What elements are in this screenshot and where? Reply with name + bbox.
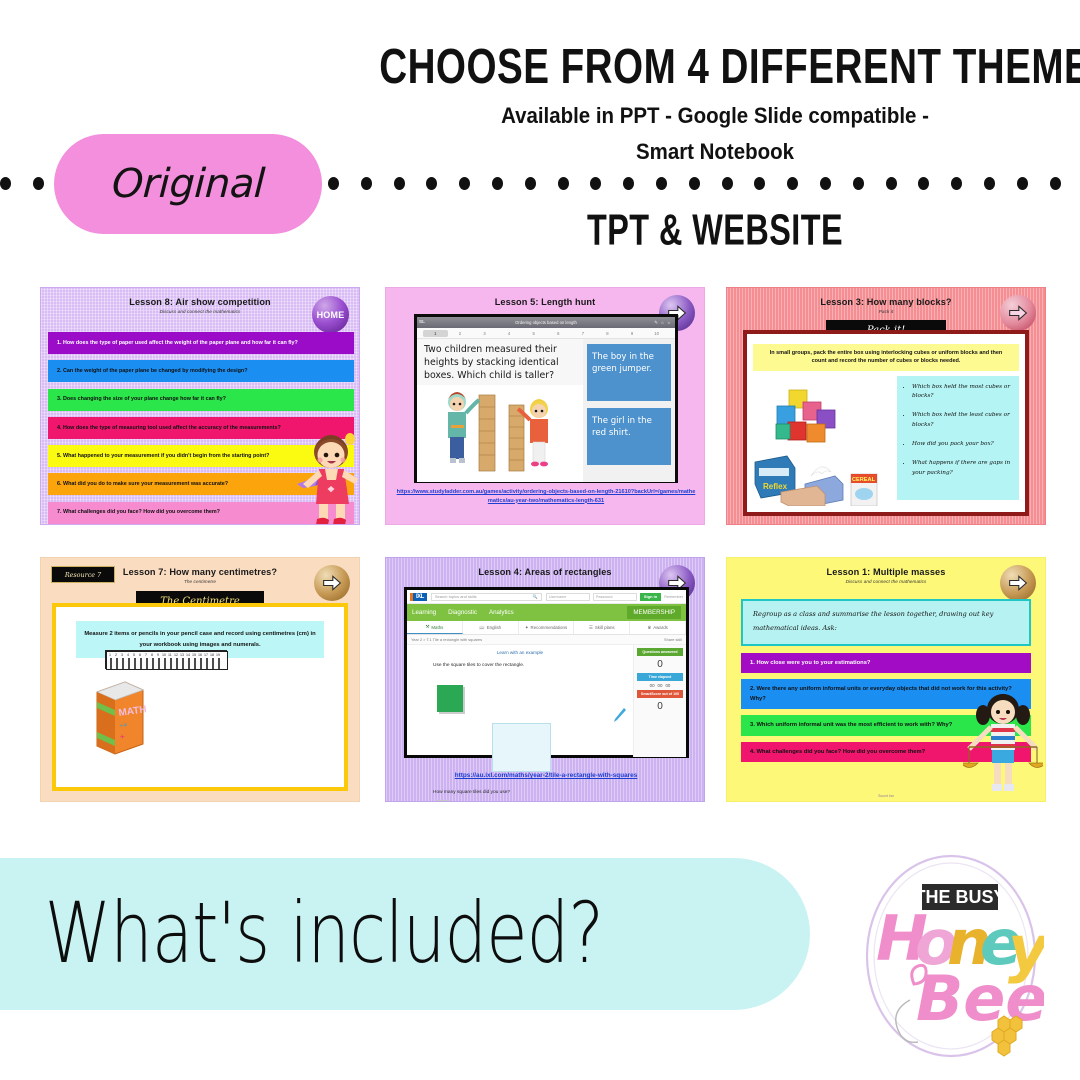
share-skill-link[interactable]: Share skill xyxy=(664,637,682,642)
page-number[interactable]: 5 xyxy=(521,330,546,337)
sign-in-button[interactable]: Sign in xyxy=(640,593,661,601)
arrow-right-button[interactable] xyxy=(314,565,350,601)
bullet-list: Which box held the most cubes or blocks?… xyxy=(897,376,1019,500)
instruction-text: In small groups, pack the entire box usi… xyxy=(753,344,1019,371)
theme-badge-original: Original xyxy=(54,134,322,234)
slide-title: Lesson 3: How many blocks? xyxy=(727,288,1045,307)
page-number[interactable]: 1 xyxy=(423,330,448,337)
activity-url-link[interactable]: https://au.ixl.com/maths/year-2/tile-a-r… xyxy=(396,772,696,779)
answer-input[interactable] xyxy=(436,800,450,802)
svg-text:18: 18 xyxy=(210,653,214,657)
divider-dot xyxy=(328,177,339,190)
answer-options-panel: The boy in the green jumper. The girl in… xyxy=(583,339,675,482)
bullet-item: Which box held the least cubes or blocks… xyxy=(912,411,1013,431)
question-panel: Two children measured their heights by s… xyxy=(417,339,583,482)
username-field[interactable]: Username xyxy=(546,593,590,601)
breadcrumb[interactable]: Year 2 > T.1 Tile a rectangle with squar… xyxy=(411,637,482,642)
question-bar: 3. Does changing the size of your plane … xyxy=(48,389,354,411)
divider-dot xyxy=(853,177,864,190)
answer-option[interactable]: The boy in the green jumper. xyxy=(587,344,671,401)
svg-text:19: 19 xyxy=(216,653,220,657)
nav-item-analytics[interactable]: Analytics xyxy=(489,609,514,616)
nav-item-diagnostic[interactable]: Diagnostic xyxy=(448,609,477,616)
question-bar: 7. What challenges did you face? How did… xyxy=(48,502,354,524)
tab-skill-plans[interactable]: ☰ Skill plans xyxy=(574,621,630,634)
arrow-right-icon xyxy=(322,573,342,593)
page-number[interactable]: 7 xyxy=(571,330,596,337)
divider-dot xyxy=(1017,177,1028,190)
divider-dot xyxy=(984,177,995,190)
subheadline-line-2: Smart Notebook xyxy=(376,134,1055,170)
svg-text:CEREAL: CEREAL xyxy=(852,477,876,483)
slide-title: Lesson 1: Multiple masses xyxy=(727,558,1045,577)
tab-label: Awards xyxy=(653,625,668,630)
divider-dot xyxy=(722,177,733,190)
tab-label: Skill plans xyxy=(595,625,615,630)
slide-title: Lesson 5: Length hunt xyxy=(386,288,704,307)
activity-url-link[interactable]: https://www.studyladder.com.au/games/act… xyxy=(396,488,696,505)
arrow-right-button[interactable] xyxy=(1000,295,1036,331)
tab-label: Maths xyxy=(431,625,443,630)
divider-dot xyxy=(886,177,897,190)
svg-text:Reflex: Reflex xyxy=(763,482,788,491)
search-input[interactable]: Search topics and skills 🔍 xyxy=(431,593,542,601)
flask-icon: ⚒ xyxy=(425,624,429,630)
ixl-embedded-window[interactable]: IXL Search topics and skills 🔍 Username … xyxy=(404,587,689,758)
svg-text:5: 5 xyxy=(133,653,135,657)
divider-dot xyxy=(459,177,470,190)
divider-dot xyxy=(590,177,601,190)
question-bar: 1. How does the type of paper used affec… xyxy=(48,332,354,354)
slide-content-frame: In small groups, pack the entire box usi… xyxy=(743,330,1029,516)
slide-thumbnail-lesson-5[interactable]: Lesson 5: Length hunt SL Ordering object… xyxy=(385,287,705,525)
header: CHOOSE FROM 4 DIFFERENT THEMES: Availabl… xyxy=(0,0,1080,270)
smartscore-value: 0 xyxy=(634,698,686,715)
slide-subtitle: Discuss and connect the mathematics xyxy=(727,577,1045,584)
activity-body: Two children measured their heights by s… xyxy=(417,339,675,482)
page-number[interactable]: 9 xyxy=(620,330,645,337)
svg-text:6: 6 xyxy=(139,653,141,657)
ixl-score-panel: Questions answered 0 Time elapsed 00 00 … xyxy=(633,645,686,757)
question-text: Two children measured their heights by s… xyxy=(417,339,583,385)
tab-maths[interactable]: ⚒ Maths xyxy=(407,621,463,634)
membership-button[interactable]: MEMBERSHIP xyxy=(627,606,681,619)
page-headline: CHOOSE FROM 4 DIFFERENT THEMES: xyxy=(379,38,1051,95)
slide-thumbnail-lesson-8[interactable]: Lesson 8: Air show competition Discuss a… xyxy=(40,287,360,525)
question-prompt-1: Use the square tiles to cover the rectan… xyxy=(407,655,633,668)
slide-title: Lesson 8: Air show competition xyxy=(41,288,359,307)
svg-text:12: 12 xyxy=(174,653,178,657)
svg-text:16: 16 xyxy=(198,653,202,657)
blocks-and-boxes-clipart: Reflex CEREAL xyxy=(747,376,897,506)
ixl-logo: IXL xyxy=(410,593,427,601)
time-elapsed-label: Time elapsed xyxy=(637,673,683,681)
svg-text:4: 4 xyxy=(127,653,129,657)
slide-thumbnail-lesson-7[interactable]: Resource 7 Lesson 7: How many centimetre… xyxy=(40,557,360,802)
page-number[interactable]: 2 xyxy=(448,330,473,337)
slide-thumbnail-lesson-4[interactable]: Lesson 4: Areas of rectangles IXL Search… xyxy=(385,557,705,802)
ixl-topbar: IXL Search topics and skills 🔍 Username … xyxy=(407,590,686,604)
slide-thumbnail-lesson-3[interactable]: Lesson 3: How many blocks? Pack it Pack … xyxy=(726,287,1046,525)
divider-dot xyxy=(820,177,831,190)
divider-dot xyxy=(361,177,372,190)
ixl-main-nav[interactable]: Learning Diagnostic Analytics MEMBERSHIP xyxy=(407,604,686,621)
ixl-work-area: Learn with an example Use the square til… xyxy=(407,645,686,757)
page-number[interactable]: 8 xyxy=(595,330,620,337)
star-icon: ✦ xyxy=(525,625,529,631)
page-number[interactable]: 4 xyxy=(497,330,522,337)
nav-item-learning[interactable]: Learning xyxy=(412,609,436,616)
answer-option[interactable]: The girl in the red shirt. xyxy=(587,408,671,465)
tab-label: English xyxy=(487,625,501,630)
questions-answered-value: 0 xyxy=(634,656,686,673)
svg-text:8: 8 xyxy=(151,653,153,657)
divider-dot xyxy=(1050,177,1061,190)
book-icon: 📖 xyxy=(479,625,484,631)
bullet-item: How did you pack your box? xyxy=(912,440,1013,450)
time-minutes: 00 xyxy=(658,683,663,688)
window-controls[interactable]: ✎ ⌂ ☼ xyxy=(654,320,672,326)
arrow-right-icon xyxy=(1008,303,1028,323)
divider-dot xyxy=(33,177,44,190)
search-placeholder: Search topics and skills xyxy=(435,594,477,599)
the-busy-honey-bee-logo: THE BUSY H o n e y Bee xyxy=(858,852,1044,1074)
divider-dot xyxy=(918,177,929,190)
bullet-item: Which box held the most cubes or blocks? xyxy=(912,383,1013,403)
question-area: Learn with an example Use the square til… xyxy=(407,645,633,757)
list-icon: ☰ xyxy=(589,625,593,631)
question-prompt-2: How many square tiles did you use? xyxy=(433,790,510,795)
questions-answered-label: Questions answered xyxy=(637,648,683,656)
divider-dot xyxy=(951,177,962,190)
home-button[interactable]: HOME xyxy=(312,296,349,333)
studyladder-embedded-window[interactable]: SL Ordering objects based on length ✎ ⌂ … xyxy=(414,314,678,483)
svg-text:1: 1 xyxy=(109,653,111,657)
studyladder-logo: SL xyxy=(419,319,425,324)
divider-dot xyxy=(787,177,798,190)
question-bar: 6. What did you do to make sure your mea… xyxy=(48,473,354,495)
whats-included-banner: What's included? xyxy=(0,858,810,1010)
divider-dot xyxy=(623,177,634,190)
lesson-note-text: Regroup as a class and summarise the les… xyxy=(741,599,1031,646)
question-bar: 2. Can the weight of the paper plane be … xyxy=(48,360,354,382)
svg-text:17: 17 xyxy=(204,653,208,657)
math-book-clipart: MATH ÷× + xyxy=(91,676,149,756)
question-bar: 4. How does the type of measuring tool u… xyxy=(48,417,354,439)
divider-dot xyxy=(754,177,765,190)
question-bar: 1. How close were you to your estimation… xyxy=(741,653,1031,673)
bullet-item: What happens if there are gaps in your p… xyxy=(912,459,1013,479)
divider-dot xyxy=(689,177,700,190)
tab-awards[interactable]: ♛ Awards xyxy=(630,621,686,634)
ixl-subject-tabs[interactable]: ⚒ Maths 📖 English ✦ Recommendations ☰ Sk… xyxy=(407,621,686,635)
divider-dot xyxy=(656,177,667,190)
search-icon: 🔍 xyxy=(533,594,538,599)
theme-badge-label: Original xyxy=(111,161,266,207)
page-number[interactable]: 10 xyxy=(644,330,669,337)
divider-dot xyxy=(426,177,437,190)
subheadline-line-1: Available in PPT - Google Slide compatib… xyxy=(376,98,1055,134)
learn-with-example-link[interactable]: Learn with an example xyxy=(407,645,633,655)
svg-text:9: 9 xyxy=(157,653,159,657)
divider-dot xyxy=(0,177,11,190)
resource-label: Resource 7 xyxy=(51,566,115,583)
children-boxes-illustration xyxy=(417,385,583,473)
svg-text:14: 14 xyxy=(186,653,190,657)
logo-line-1: THE BUSY xyxy=(914,887,1005,907)
divider-dot xyxy=(394,177,405,190)
svg-text:10: 10 xyxy=(162,653,166,657)
svg-text:3: 3 xyxy=(121,653,123,657)
svg-text:11: 11 xyxy=(168,653,172,657)
divider-dot xyxy=(558,177,569,190)
page-number[interactable]: 3 xyxy=(472,330,497,337)
breadcrumb-bar: Year 2 > T.1 Tile a rectangle with squar… xyxy=(407,635,686,645)
girl-with-balance-scales-clipart xyxy=(963,689,1043,797)
logo-line-3: Bee xyxy=(916,962,1044,1035)
tab-recommendations[interactable]: ✦ Recommendations xyxy=(519,621,575,634)
smartscore-label: SmartScore out of 100 xyxy=(637,690,683,698)
time-seconds: 00 xyxy=(665,683,670,688)
time-hours: 00 xyxy=(650,683,655,688)
slide-thumbnail-lesson-1[interactable]: Lesson 1: Multiple masses Discuss and co… xyxy=(726,557,1046,802)
time-elapsed-digits: 00 00 00 xyxy=(634,681,686,690)
pencil-icon[interactable] xyxy=(613,707,627,723)
tab-english[interactable]: 📖 English xyxy=(463,621,519,634)
arrow-right-icon xyxy=(1008,573,1028,593)
svg-text:÷×: ÷× xyxy=(119,722,128,730)
content-row: Reflex CEREAL xyxy=(747,376,1025,506)
question-bar-list: 1. How does the type of paper used affec… xyxy=(48,332,354,525)
remember-checkbox-label[interactable]: Remember xyxy=(664,595,683,599)
arrow-right-button[interactable] xyxy=(1000,565,1036,601)
page-number-strip[interactable]: 1 2 3 4 5 6 7 8 9 10 xyxy=(417,328,675,339)
trophy-icon: ♛ xyxy=(647,625,651,631)
tab-label: Recommendations xyxy=(531,625,568,630)
green-square-tile[interactable] xyxy=(437,685,463,712)
slide-subtitle: Pack it xyxy=(727,307,1045,314)
question-bar: 5. What happened to your measurement if … xyxy=(48,445,354,467)
svg-text:2: 2 xyxy=(115,653,117,657)
target-rectangle[interactable] xyxy=(492,723,551,772)
page-subheadline: Available in PPT - Google Slide compatib… xyxy=(376,98,1055,171)
ruler-clipart: 123 456 789 101112 131415 161718 19 xyxy=(105,650,227,669)
svg-text:15: 15 xyxy=(192,653,196,657)
password-field[interactable]: Password xyxy=(593,593,637,601)
window-titlebar: SL Ordering objects based on length ✎ ⌂ … xyxy=(417,317,675,328)
svg-text:7: 7 xyxy=(145,653,147,657)
tpt-website-label: TPT & WEBSITE xyxy=(387,205,1044,255)
svg-text:13: 13 xyxy=(180,653,184,657)
slide-title: Lesson 4: Areas of rectangles xyxy=(386,558,704,577)
divider-dot xyxy=(492,177,503,190)
divider-dot xyxy=(525,177,536,190)
page-number[interactable]: 6 xyxy=(546,330,571,337)
window-title: Ordering objects based on length xyxy=(515,320,577,325)
whats-included-text: What's included? xyxy=(0,885,603,982)
